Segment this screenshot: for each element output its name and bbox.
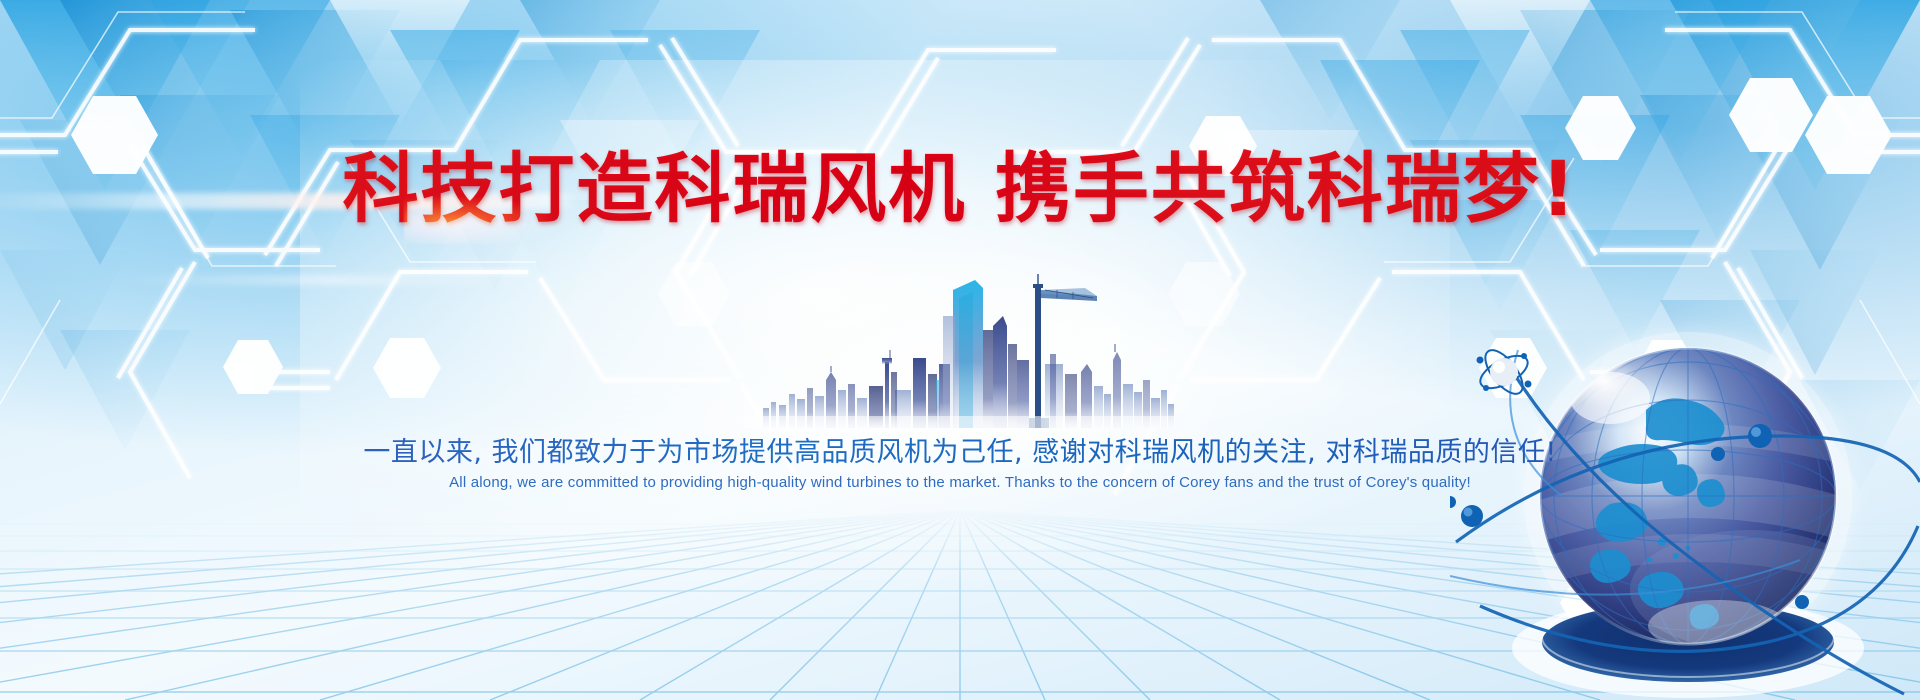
lens-flare-streak-secondary — [120, 276, 540, 284]
subtitle-chinese: 一直以来, 我们都致力于为市场提供高品质风机为己任, 感谢对科瑞风机的关注, 对… — [0, 430, 1920, 469]
city-skyline-illustration — [745, 268, 1175, 428]
title-flare — [404, 196, 554, 244]
glass-globe-illustration — [1450, 290, 1920, 700]
subtitle-english: All along, we are committed to providing… — [0, 474, 1920, 491]
page-title: 科技打造科瑞风机 携手共筑科瑞梦! — [0, 148, 1920, 230]
promotional-banner: 科技打造科瑞风机 携手共筑科瑞梦! 科技打造科瑞风机 携手共筑科瑞梦! 一直以来… — [0, 0, 1920, 700]
